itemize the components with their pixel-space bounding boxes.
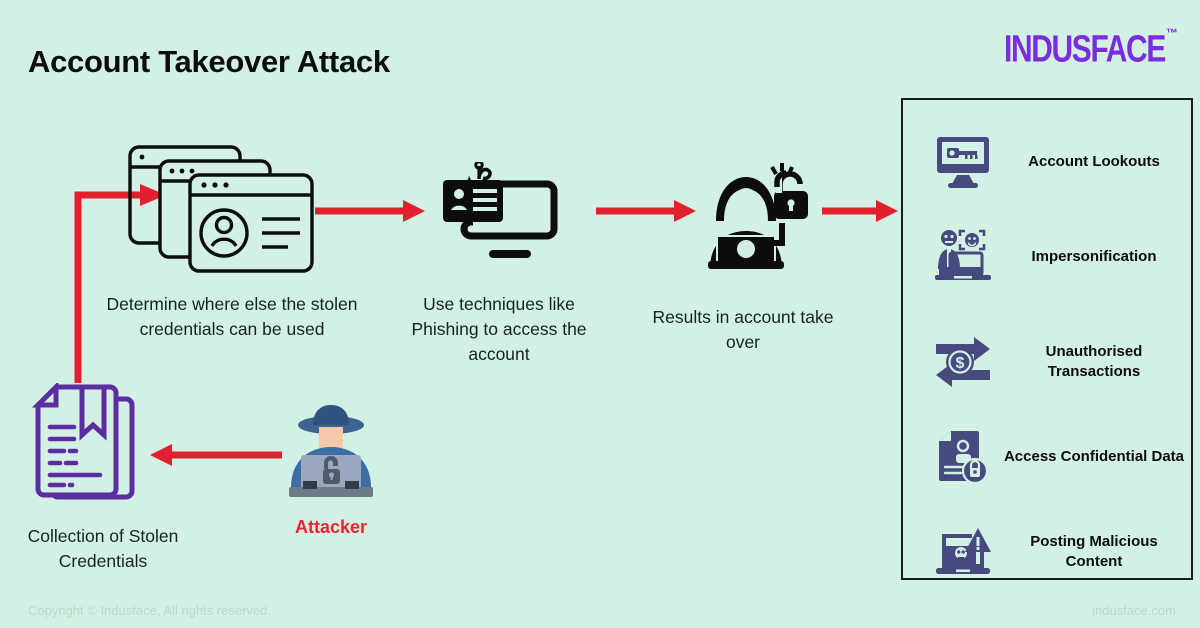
panel-label-account-lookouts: Account Lookouts [1001, 152, 1195, 172]
stacked-browser-windows-icon [128, 145, 316, 280]
panel-row-access-confidential-data: Access Confidential Data [903, 413, 1195, 501]
page-title: Account Takeover Attack [28, 44, 390, 80]
trademark-symbol: ™ [1166, 26, 1178, 40]
caption-collection: Collection of Stolen Credentials [0, 524, 206, 574]
arrow-right-2 [596, 200, 696, 227]
caption-results: Results in account take over [636, 305, 850, 355]
phishing-id-card-monitor-icon [435, 162, 571, 275]
face-scan-laptop-icon [925, 229, 1001, 285]
footer-copyright: Copyright © Indusface, All rights reserv… [28, 603, 271, 618]
panel-label-access-confidential-data: Access Confidential Data [1001, 447, 1195, 467]
laptop-skull-warning-icon [925, 526, 1001, 578]
money-transfer-arrows-icon: $ [925, 336, 1001, 388]
brand-wordmark: INDUSFACE [1004, 28, 1165, 72]
svg-text:$: $ [956, 355, 965, 372]
caption-determine: Determine where else the stolen credenti… [104, 292, 360, 342]
monitor-key-icon [925, 135, 1001, 189]
arrow-left-to-documents [148, 444, 282, 471]
footer-website: indusface.com [1092, 603, 1176, 618]
panel-label-impersonification: Impersonification [1001, 247, 1195, 267]
panel-row-posting-malicious-content: Posting Malicious Content [903, 508, 1195, 596]
panel-label-unauthorised-transactions: Unauthorised Transactions [1001, 342, 1195, 383]
indusface-logo: INDUSFACE ™ [982, 28, 1178, 67]
panel-row-unauthorised-transactions: $ Unauthorised Transactions [903, 318, 1195, 406]
arrow-right-3 [822, 200, 898, 227]
results-panel: Account Lookouts [901, 98, 1193, 580]
panel-row-impersonification: Impersonification [903, 213, 1195, 301]
caption-phishing: Use techniques like Phishing to access t… [388, 292, 610, 367]
confidential-document-lock-icon [925, 429, 1001, 485]
arrow-right-1 [315, 200, 425, 227]
panel-label-posting-malicious-content: Posting Malicious Content [1001, 532, 1195, 573]
hacker-unlocked-padlock-icon [694, 157, 810, 274]
label-attacker: Attacker [256, 517, 406, 538]
attacker-with-laptop-icon [283, 403, 379, 504]
stacked-documents-icon [30, 383, 140, 506]
panel-row-account-lookouts: Account Lookouts [903, 118, 1195, 206]
